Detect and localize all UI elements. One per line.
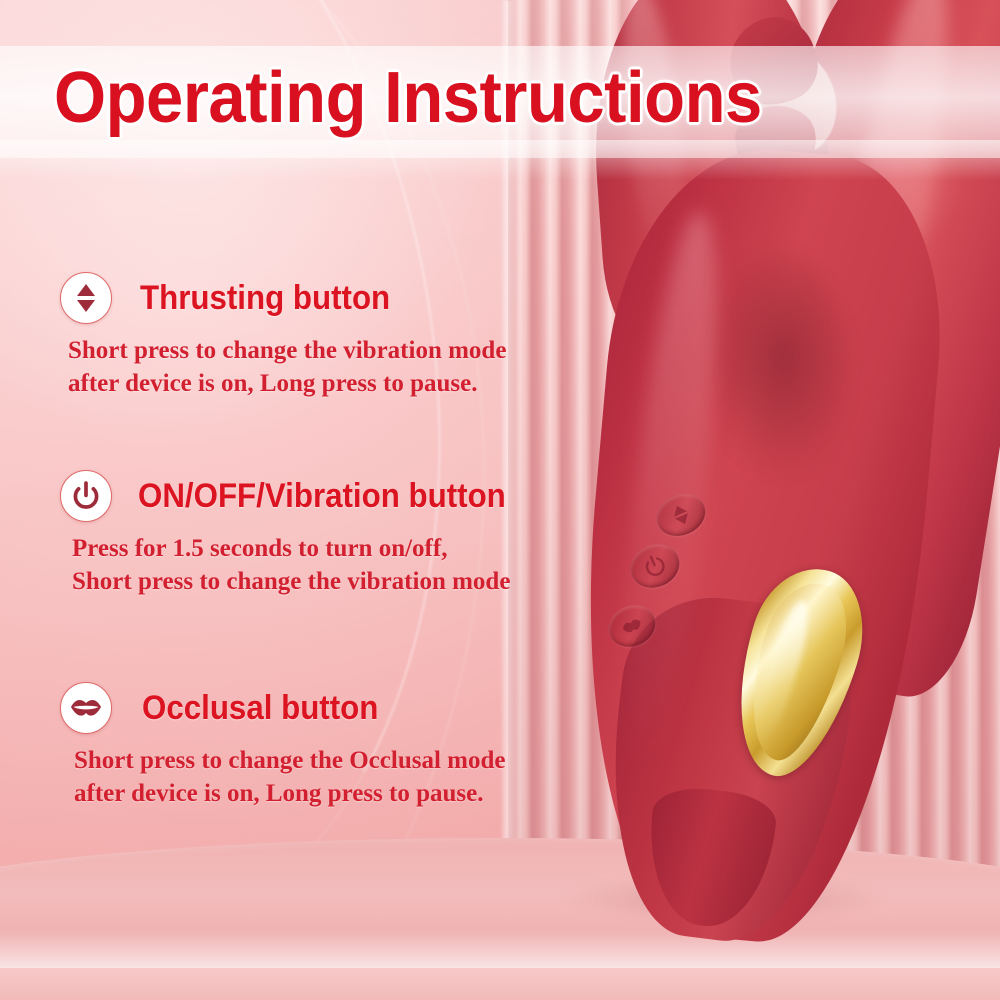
thrusting-arrows-icon <box>73 283 99 313</box>
title-band-fade <box>0 140 1000 180</box>
feature-heading-row: Thrusting button <box>60 272 540 324</box>
feature-heading-row: ON/OFF/Vibration button <box>60 470 540 522</box>
feature-description: Short press to change the vibration mode… <box>68 334 540 400</box>
page-title: Operating Instructions <box>54 56 762 140</box>
feature-block-power: ON/OFF/Vibration button Press for 1.5 se… <box>60 470 540 598</box>
feature-title: Thrusting button <box>140 278 390 318</box>
feature-block-occlusal: Occlusal button Short press to change th… <box>60 682 540 810</box>
device-arm-junction-shadow <box>700 250 850 490</box>
feature-heading-row: Occlusal button <box>60 682 540 734</box>
power-icon-badge <box>60 470 112 522</box>
feature-description: Press for 1.5 seconds to turn on/off, Sh… <box>72 532 540 598</box>
product-instruction-graphic: Operating Instructions Thrusting button … <box>0 0 1000 1000</box>
power-icon <box>71 480 101 512</box>
thrusting-arrows-icon <box>666 500 696 531</box>
power-icon <box>640 551 670 582</box>
feature-description: Short press to change the Occlusal mode … <box>74 744 540 810</box>
feature-block-thrusting: Thrusting button Short press to change t… <box>60 272 540 400</box>
thrusting-icon-badge <box>60 272 112 324</box>
occlusal-icon-badge <box>60 682 112 734</box>
lips-icon <box>69 697 103 719</box>
feature-title: Occlusal button <box>142 688 378 728</box>
lips-icon <box>618 613 645 638</box>
feature-title: ON/OFF/Vibration button <box>138 476 506 516</box>
